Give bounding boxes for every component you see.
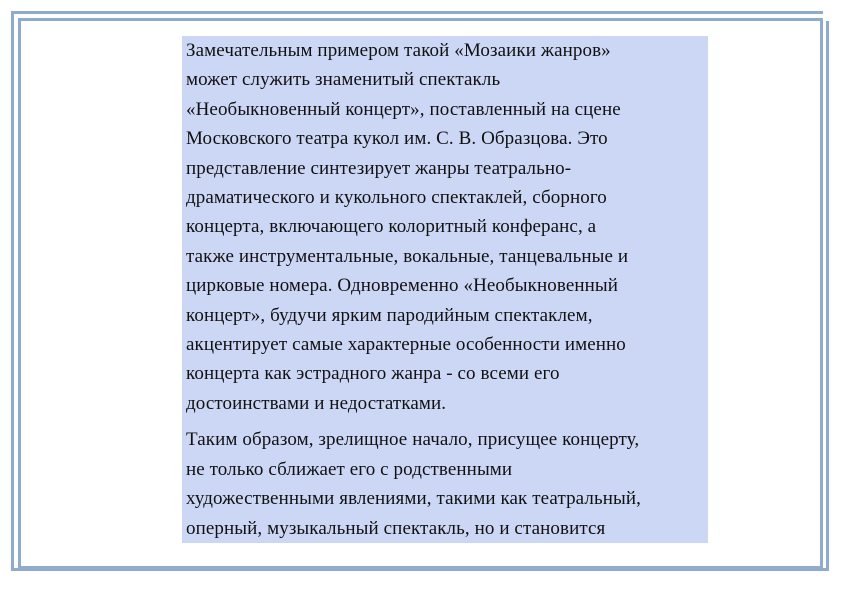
text-line: «Необыкновенный концерт», поставленный н…: [182, 95, 708, 124]
text-line: драматического и кукольного спектаклей, …: [182, 183, 708, 212]
text-line: представление синтезирует жанры театраль…: [182, 154, 708, 183]
highlighted-text-block: Замечательным примером такой «Мозаики жа…: [182, 36, 708, 543]
text-line: концерта как эстрадного жанра - со всеми…: [182, 359, 708, 388]
slide: Замечательным примером такой «Мозаики жа…: [0, 0, 842, 595]
text-line: концерта, включающего колоритный конфера…: [182, 212, 708, 241]
text-line: художественными явлениями, такими как те…: [182, 484, 708, 513]
border-corner-mask: [823, 11, 829, 21]
text-line: Московского театра кукол им. С. В. Образ…: [182, 124, 708, 153]
slide-body-text: Замечательным примером такой «Мозаики жа…: [182, 36, 708, 543]
text-line: также инструментальные, вокальные, танце…: [182, 242, 708, 271]
paragraph-1: Замечательным примером такой «Мозаики жа…: [182, 36, 708, 418]
text-line: цирковые номера. Одновременно «Необыкнов…: [182, 271, 708, 300]
text-line: Замечательным примером такой «Мозаики жа…: [182, 36, 708, 65]
text-line: достоинствами и недостатками.: [182, 389, 708, 418]
text-line: концерт», будучи ярким пародийным спекта…: [182, 301, 708, 330]
paragraph-2: Таким образом, зрелищное начало, присуще…: [182, 425, 708, 543]
text-line: оперный, музыкальный спектакль, но и ста…: [182, 514, 708, 543]
text-line: не только сближает его с родственными: [182, 455, 708, 484]
text-line: акцентирует самые характерные особенност…: [182, 330, 708, 359]
text-line: Таким образом, зрелищное начало, присуще…: [182, 425, 708, 454]
text-line: может служить знаменитый спектакль: [182, 65, 708, 94]
